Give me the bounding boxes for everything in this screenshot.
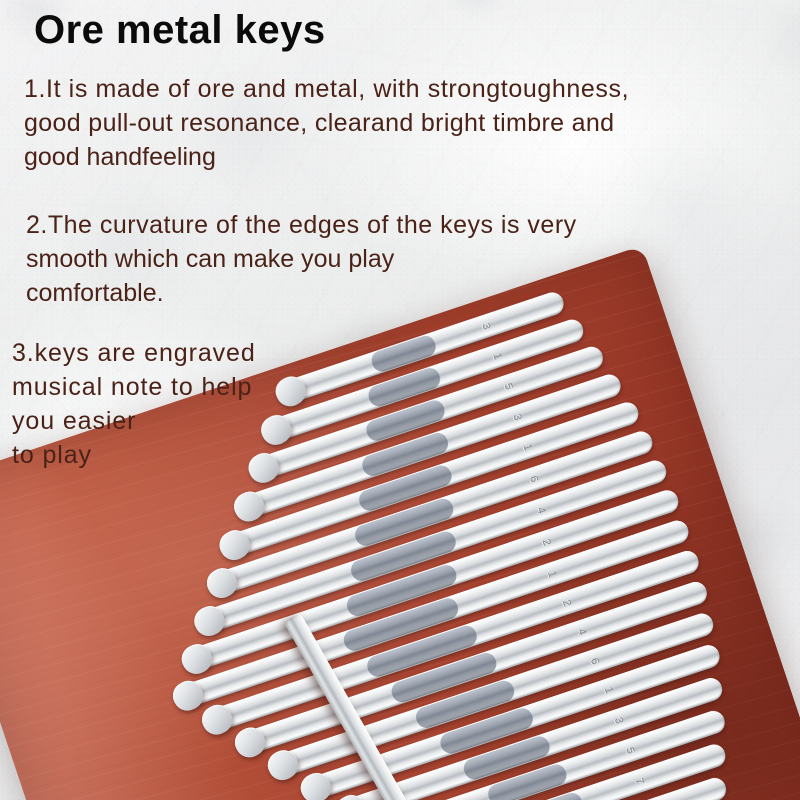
feature-3-line-3: you easier — [12, 404, 256, 438]
tine-tip — [197, 700, 237, 740]
feature-paragraph-3: 3.keys are engraved musical note to help… — [12, 336, 256, 472]
feature-3-line-1: 3.keys are engraved — [12, 336, 256, 370]
feature-1-line-3: good handfeeling — [24, 140, 629, 174]
tine-tip — [177, 639, 217, 679]
tine-tip — [202, 563, 242, 603]
tine-tip — [230, 723, 270, 763]
tine-tip — [189, 601, 229, 641]
feature-paragraph-2: 2.The curvature of the edges of the keys… — [26, 208, 577, 310]
tine-tip — [256, 410, 296, 450]
feature-2-line-3: comfortable. — [26, 276, 577, 310]
tine-tip — [271, 372, 311, 412]
feature-1-line-1: 1.It is made of ore and metal, with stro… — [24, 72, 629, 106]
feature-2-line-1: 2.The curvature of the edges of the keys… — [26, 208, 577, 242]
tine-tip — [215, 525, 255, 565]
tine-tip — [263, 745, 303, 785]
feature-2-line-2: smooth which can make you play — [26, 242, 577, 276]
feature-3-line-2: musical note to help — [12, 370, 256, 404]
page-title: Ore metal keys — [34, 8, 326, 53]
tine-tip — [296, 768, 336, 800]
tine-tip — [229, 487, 269, 527]
tine-tip — [168, 676, 208, 716]
infographic-stage: Ore metal keys 1.It is made of ore and m… — [0, 0, 800, 800]
feature-3-line-4: to play — [12, 438, 256, 472]
feature-1-line-2: good pull-out resonance, clearand bright… — [24, 106, 629, 140]
feature-paragraph-1: 1.It is made of ore and metal, with stro… — [24, 72, 629, 174]
